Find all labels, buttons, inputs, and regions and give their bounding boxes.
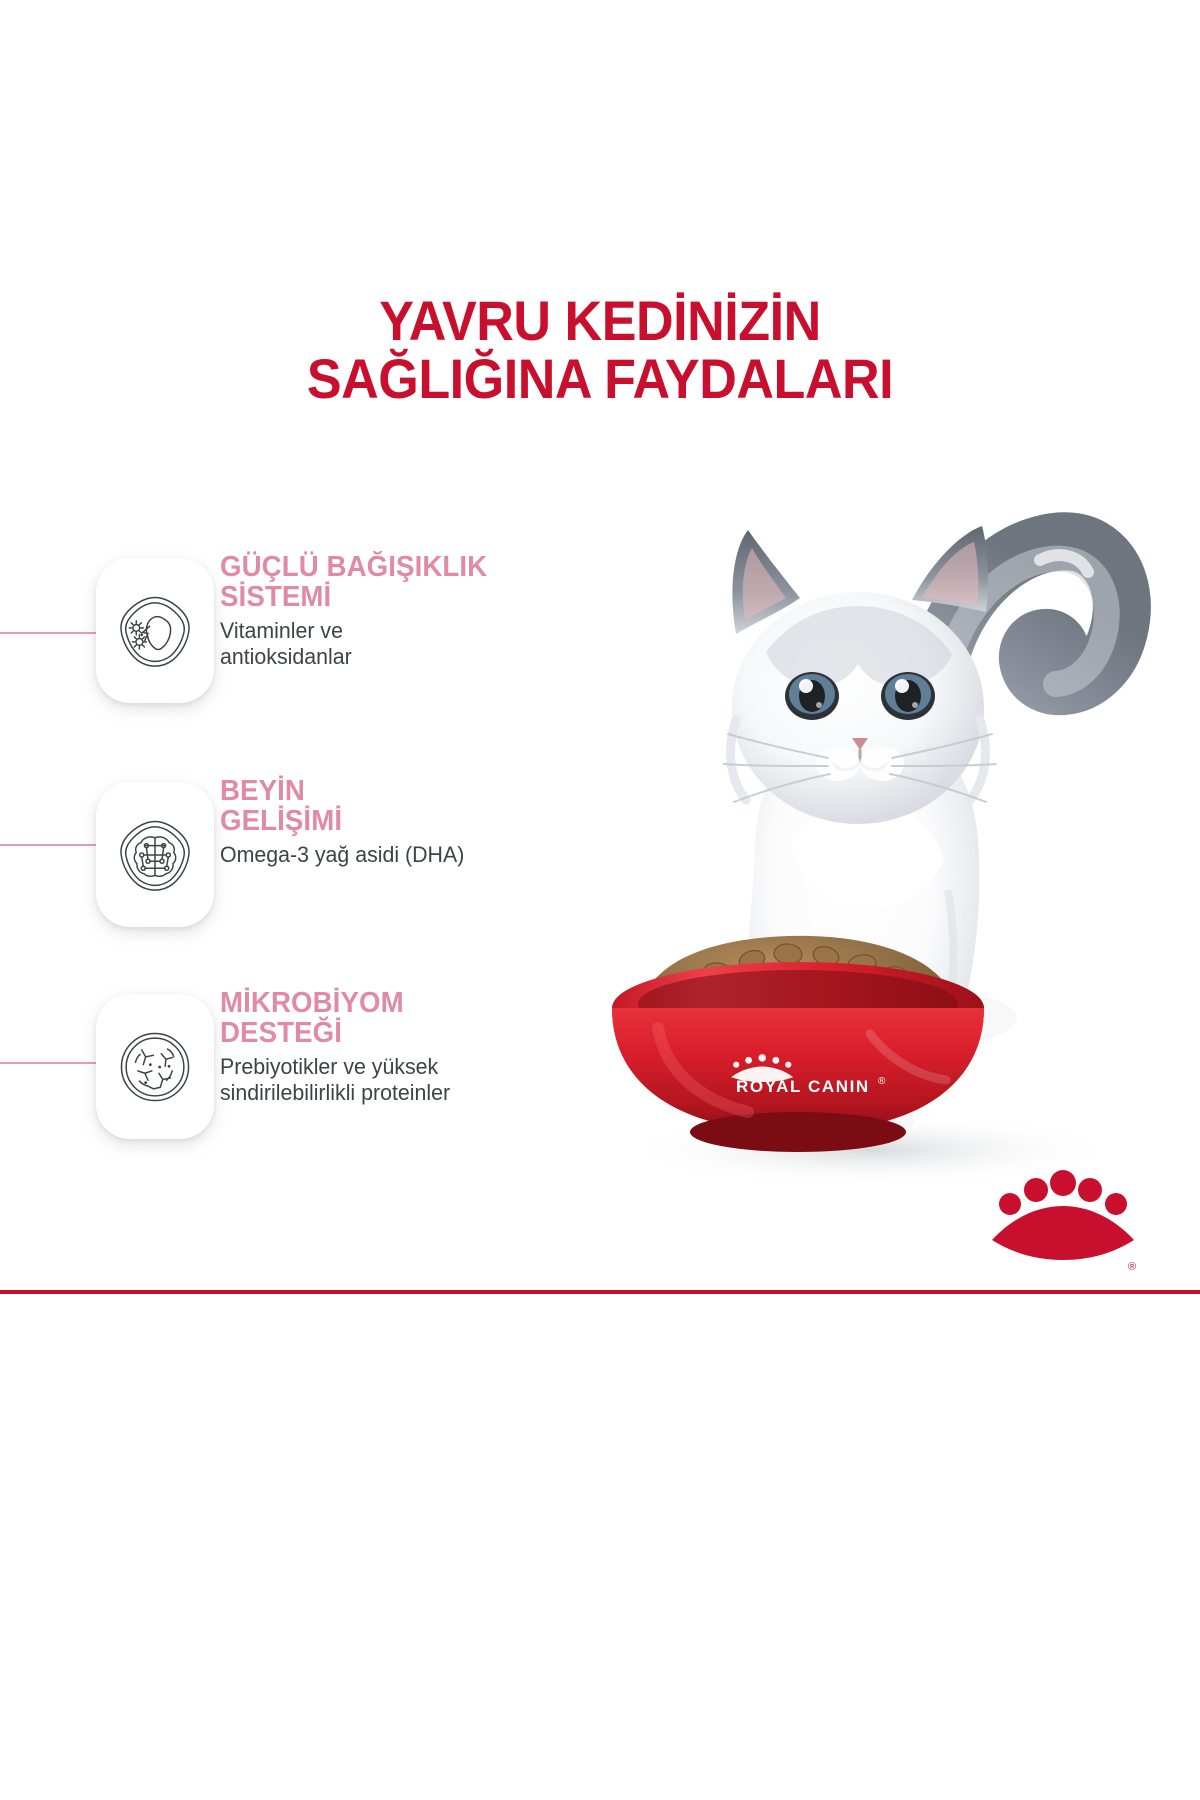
benefit-title-line2: GELİŞİMİ xyxy=(220,805,342,837)
royal-canin-logo: ® xyxy=(988,1170,1138,1272)
kitten-photo: ROYAL CANIN ® xyxy=(540,420,1200,1190)
benefit-item-microbiome: MİKROBİYOM DESTEĞİ Prebiyotikler ve yüks… xyxy=(0,984,620,1174)
connector-line xyxy=(0,632,96,634)
benefit-title-line1: MİKROBİYOM xyxy=(220,987,404,1019)
benefit-title-line1: BEYİN xyxy=(220,775,305,807)
benefit-desc-line2: antioksidanlar xyxy=(220,644,352,669)
benefit-desc-line1: Prebiyotikler ve yüksek xyxy=(220,1054,438,1079)
kitten-illustration: ROYAL CANIN ® xyxy=(540,420,1200,1190)
benefit-desc-line2: sindirilebilirlikli proteinler xyxy=(220,1080,450,1105)
benefit-desc-line1: Omega-3 yağ asidi (DHA) xyxy=(220,842,464,867)
connector-line xyxy=(0,1062,96,1064)
benefit-item-brain: BEYİN GELİŞİMİ Omega-3 yağ asidi (DHA) xyxy=(0,772,620,962)
page-title-line2: SAĞLIĞINA FAYDALARI xyxy=(42,350,1158,408)
bottom-divider xyxy=(0,1290,1200,1294)
brain-icon xyxy=(116,816,194,894)
page-title-line1: YAVRU KEDİNİZİN xyxy=(42,292,1158,350)
bowl-wordmark: ROYAL CANIN xyxy=(736,1077,870,1096)
microbiome-icon xyxy=(116,1028,194,1106)
crown-logo-icon: ® xyxy=(988,1170,1138,1272)
bowl-trademark: ® xyxy=(878,1076,886,1087)
benefit-icon-card xyxy=(96,994,214,1139)
logo-trademark: ® xyxy=(1128,1261,1136,1272)
benefit-desc-line1: Vitaminler ve xyxy=(220,618,343,643)
benefit-title-line2: SİSTEMİ xyxy=(220,581,331,613)
immunity-shield-icon xyxy=(116,592,194,670)
connector-line xyxy=(0,844,96,846)
page-title: YAVRU KEDİNİZİN SAĞLIĞINA FAYDALARI xyxy=(42,292,1158,407)
benefit-title-line2: DESTEĞİ xyxy=(220,1017,342,1049)
benefit-title-line1: GÜÇLÜ BAĞIŞIKLIK xyxy=(220,551,487,583)
benefit-icon-card xyxy=(96,558,214,703)
benefit-item-immunity: GÜÇLÜ BAĞIŞIKLIK SİSTEMİ Vitaminler ve a… xyxy=(0,548,620,738)
benefit-icon-card xyxy=(96,782,214,927)
royal-canin-kitten-benefits-page: YAVRU KEDİNİZİN SAĞLIĞINA FAYDALARI GÜ xyxy=(0,0,1200,1800)
